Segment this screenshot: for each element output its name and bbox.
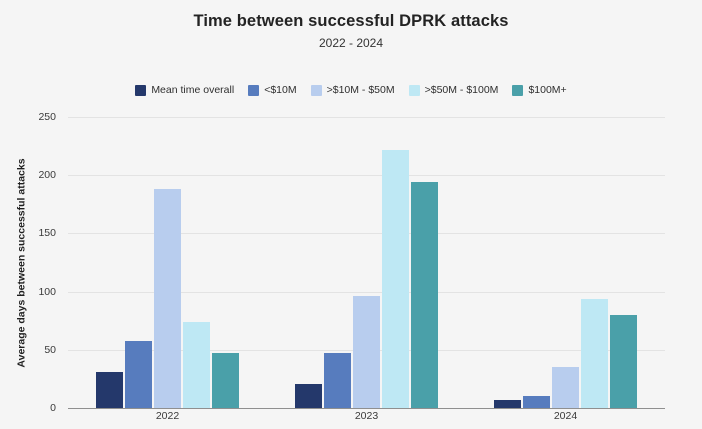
page-title: Time between successful DPRK attacks (0, 12, 702, 31)
x-axis-tick-label: 2023 (267, 410, 466, 422)
legend-item-label: >$50M - $100M (425, 84, 499, 96)
legend-item-label: >$10M - $50M (327, 84, 395, 96)
bar[interactable] (212, 353, 239, 408)
chart-subtitle: 2022 - 2024 (0, 36, 702, 50)
legend-item-label: $100M+ (528, 84, 566, 96)
x-axis-tick-label: 2022 (68, 410, 267, 422)
legend-swatch-icon (512, 85, 523, 96)
chart-legend: Mean time overall<$10M>$10M - $50M>$50M … (0, 84, 702, 96)
bar[interactable] (183, 322, 210, 408)
legend-item[interactable]: >$50M - $100M (409, 84, 499, 96)
bar-groups (68, 117, 665, 408)
bars (68, 117, 267, 408)
bars (466, 117, 665, 408)
y-axis-tick-label: 0 (50, 402, 56, 414)
bar-group (267, 117, 466, 408)
y-axis-tick-labels: 050100150200250 (0, 117, 62, 408)
legend-item[interactable]: <$10M (248, 84, 296, 96)
legend-swatch-icon (409, 85, 420, 96)
bars (267, 117, 466, 408)
bar[interactable] (154, 189, 181, 408)
bar[interactable] (494, 400, 521, 408)
bar[interactable] (295, 384, 322, 408)
x-axis-line (68, 408, 665, 409)
x-axis-tick-label: 2024 (466, 410, 665, 422)
bar[interactable] (353, 296, 380, 408)
bar[interactable] (411, 182, 438, 408)
legend-item-label: <$10M (264, 84, 296, 96)
bar-group (466, 117, 665, 408)
legend-item[interactable]: >$10M - $50M (311, 84, 395, 96)
y-axis-tick-label: 200 (38, 169, 56, 181)
legend-item[interactable]: Mean time overall (135, 84, 234, 96)
bar[interactable] (324, 353, 351, 408)
legend-item-label: Mean time overall (151, 84, 234, 96)
plot-area (68, 117, 665, 408)
legend-swatch-icon (135, 85, 146, 96)
y-axis-tick-label: 250 (38, 111, 56, 123)
chart-page: Time between successful DPRK attacks 202… (0, 0, 702, 429)
bar-group (68, 117, 267, 408)
legend-swatch-icon (311, 85, 322, 96)
legend-item[interactable]: $100M+ (512, 84, 566, 96)
bar[interactable] (382, 150, 409, 408)
y-axis-tick-label: 50 (44, 344, 56, 356)
bar[interactable] (610, 315, 637, 408)
bar[interactable] (552, 367, 579, 408)
y-axis-tick-label: 150 (38, 227, 56, 239)
bar[interactable] (581, 299, 608, 408)
legend-swatch-icon (248, 85, 259, 96)
bar[interactable] (523, 396, 550, 408)
y-axis-tick-label: 100 (38, 286, 56, 298)
bar[interactable] (96, 372, 123, 408)
x-axis-tick-labels: 202220232024 (68, 410, 665, 422)
bar[interactable] (125, 341, 152, 409)
